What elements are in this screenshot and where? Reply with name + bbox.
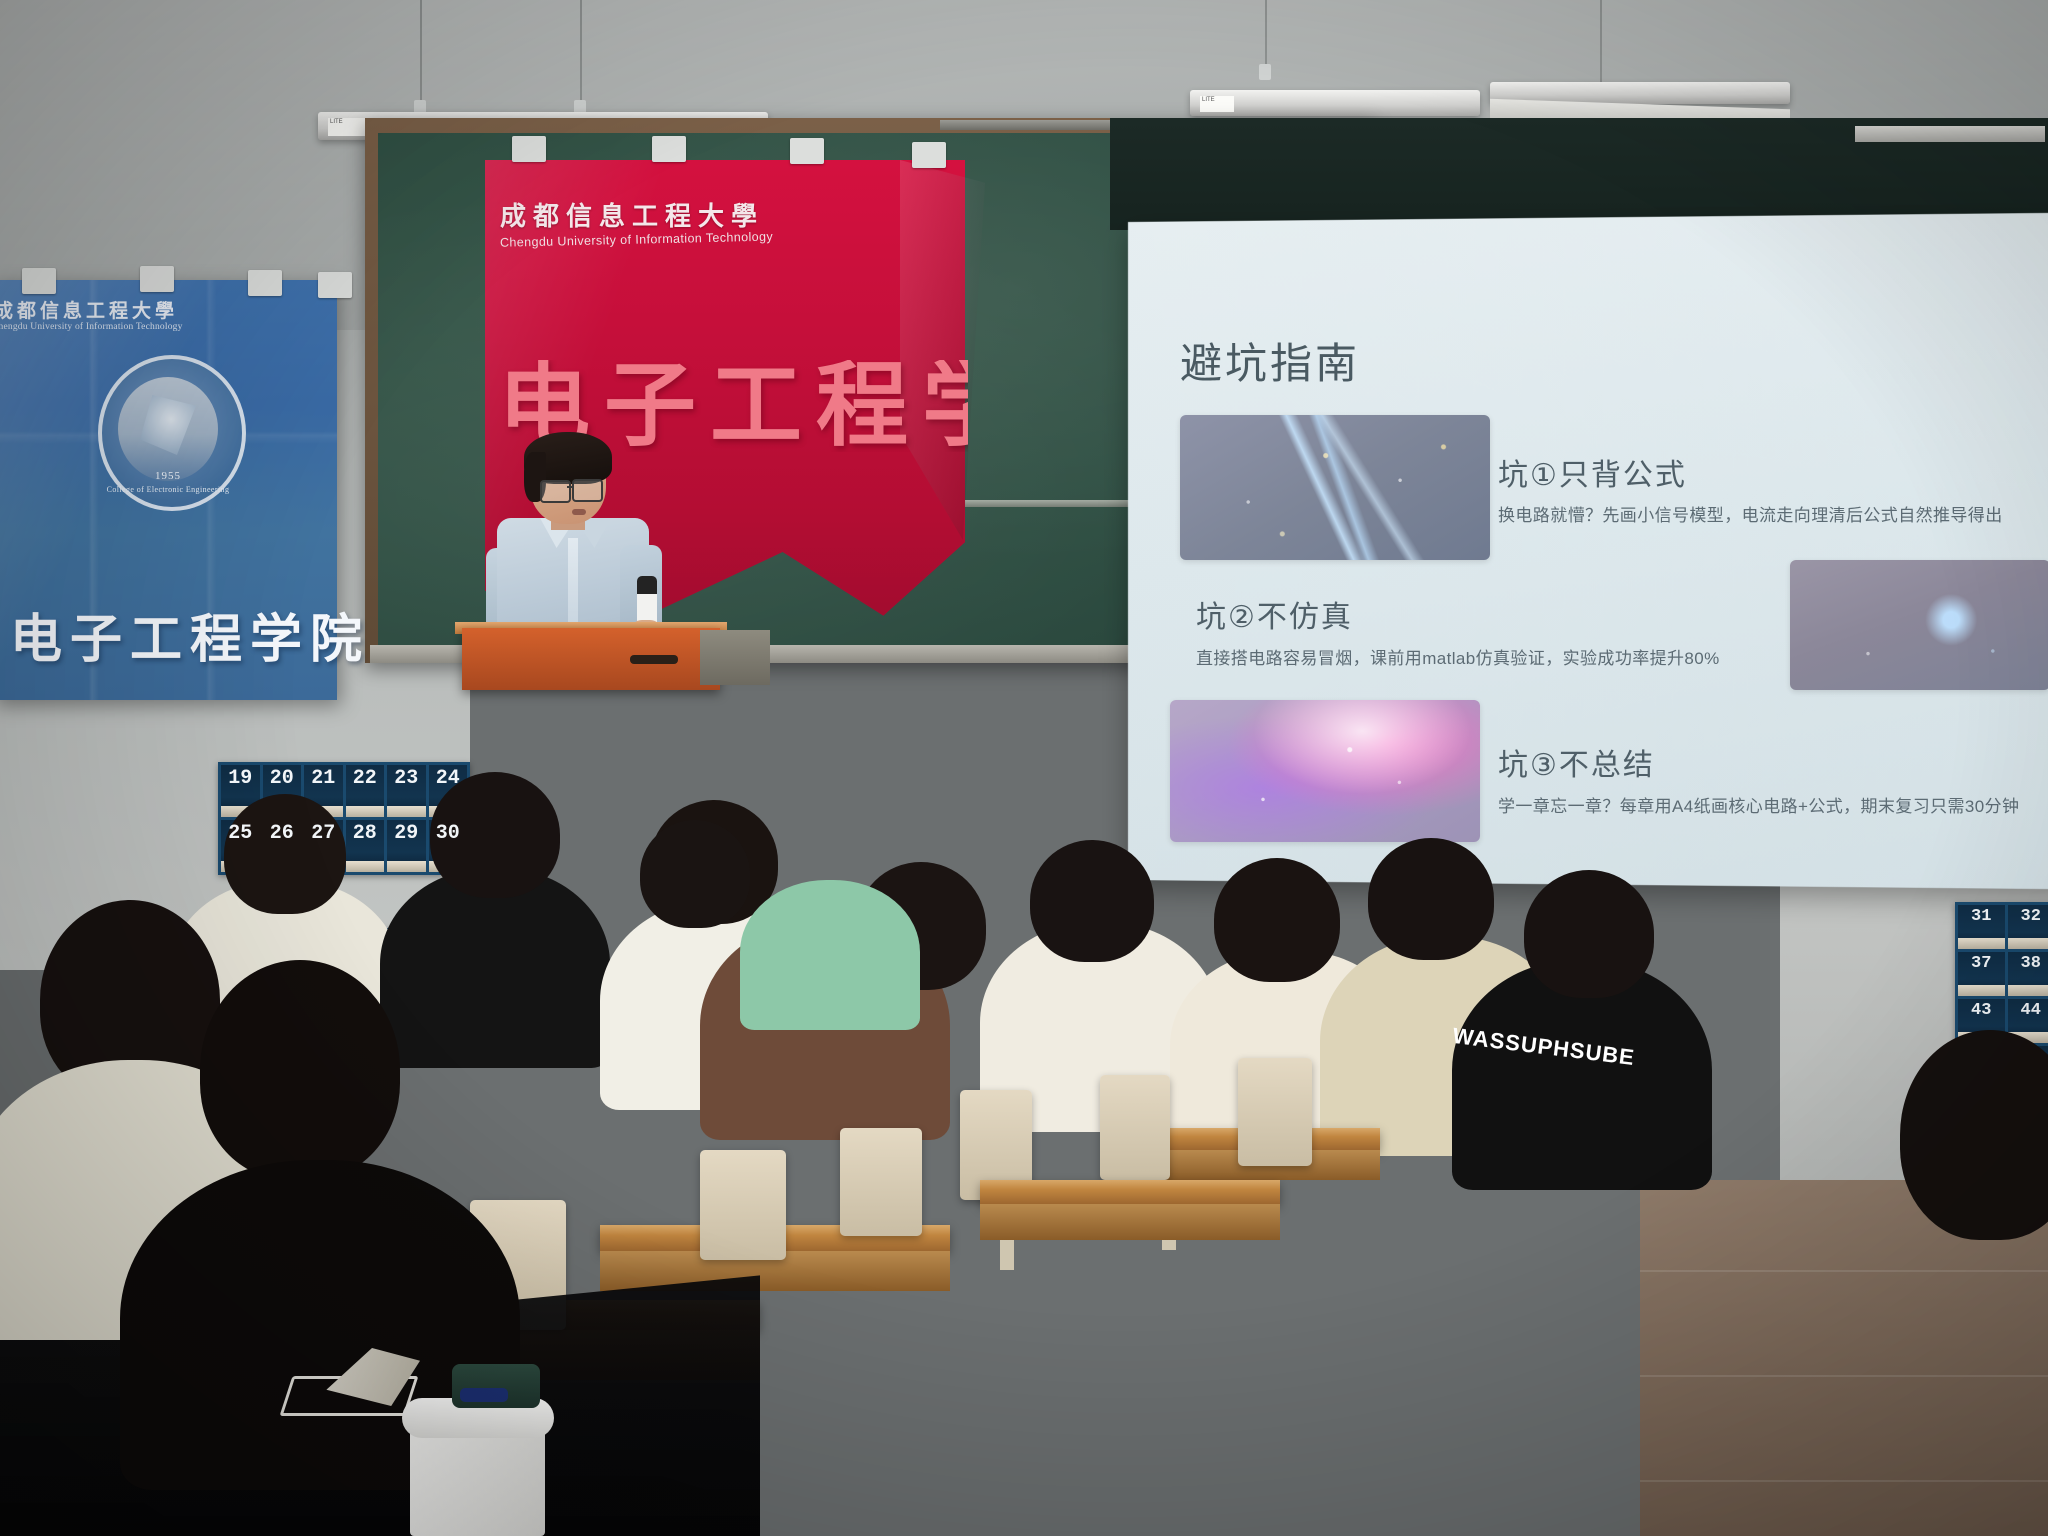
- slide-bullet-3-body: 学一章忘一章？每章用A4纸画核心电路+公式，期末复习只需30分钟: [1498, 792, 2019, 817]
- seat-number: 23: [394, 767, 418, 790]
- student-head: [640, 820, 750, 928]
- water-bottle-tab: [460, 1388, 508, 1402]
- slide-nebula-image: [1170, 700, 1480, 842]
- slide-bullet-1-body: 换电路就懵？先画小信号模型，电流走向理清后公式自然推导得出: [1498, 501, 2003, 526]
- glasses-bridge: [567, 486, 574, 488]
- seat-number: 28: [353, 822, 377, 845]
- seat-number: 26: [270, 822, 294, 845]
- student-head: [1524, 870, 1654, 998]
- glasses-icon: [540, 480, 571, 503]
- seat-number: 24: [436, 767, 460, 790]
- seat-number: 31: [1971, 907, 1991, 926]
- seat-number: 22: [353, 767, 377, 790]
- student-body: [740, 880, 920, 1030]
- blue-banner-university-cn: 成都信息工程大學: [0, 296, 224, 323]
- chair-back: [1238, 1058, 1312, 1166]
- seat-pocket: 23: [387, 765, 426, 817]
- banner-clip: [248, 270, 282, 296]
- seat-number: 30: [436, 822, 460, 845]
- light-fixture-label: LITE: [328, 118, 366, 136]
- banner-clip: [140, 266, 174, 292]
- banner-clip: [790, 138, 824, 164]
- crest-college-name-en: College of Electronic Engineering: [98, 485, 238, 494]
- seat-number: 32: [2021, 907, 2041, 926]
- banner-clip: [912, 142, 946, 168]
- student-head: [224, 794, 346, 914]
- light-wire: [420, 0, 422, 104]
- seat-pocket: 37: [1958, 952, 2005, 996]
- desk-front: [980, 1204, 1280, 1240]
- light-fixture-label: LITE: [1200, 96, 1234, 112]
- classroom-photo: LITE LITE 成都信息工程大學 Chengdu University of…: [0, 0, 2048, 1536]
- desk: [980, 1180, 1280, 1204]
- banner-clip: [512, 136, 546, 162]
- light-wire: [1600, 0, 1602, 86]
- slide-bullet-1-heading: 坑①只背公式: [1498, 450, 1687, 494]
- seat-pocket: 22: [346, 765, 385, 817]
- seat-pocket: 29: [387, 820, 426, 872]
- slide-bullet-2-body: 直接搭电路容易冒烟，课前用matlab仿真验证，实验成功率提升80%: [1196, 644, 1720, 669]
- glasses-icon: [572, 479, 603, 502]
- student-head: [1214, 858, 1340, 982]
- student-head-foreground: [200, 960, 400, 1180]
- slide-bullet-2-heading: 坑②不仿真: [1196, 592, 1353, 636]
- seat-number: 43: [1971, 1001, 1991, 1020]
- seat-number: 27: [311, 822, 335, 845]
- seat-number: 21: [311, 767, 335, 790]
- podium-side-cabinet: [700, 630, 770, 685]
- seat-number: 25: [228, 822, 252, 845]
- chair-back: [840, 1128, 922, 1236]
- slide-title: 避坑指南: [1180, 330, 1360, 391]
- light-clip: [1259, 64, 1271, 80]
- crest-year: 1955: [98, 470, 238, 482]
- banner-clip: [22, 268, 56, 294]
- student-head: [1368, 838, 1494, 960]
- seat-number: 19: [228, 767, 252, 790]
- seat-pocket: 31: [1958, 905, 2005, 949]
- chair-back: [1100, 1075, 1170, 1180]
- slide-circuit-traces-image: [1180, 415, 1490, 560]
- light-wire: [1265, 0, 1267, 68]
- slide-microchip-image: [1790, 560, 2048, 690]
- chair-back: [700, 1150, 786, 1260]
- podium-handle: [630, 655, 678, 664]
- seat-number: 37: [1971, 954, 1991, 973]
- seat-pocket: 38: [2008, 952, 2048, 996]
- banner-clip: [652, 136, 686, 162]
- seat-pocket: 32: [2008, 905, 2048, 949]
- blue-banner-university-en: Chengdu University of Information Techno…: [0, 322, 232, 332]
- seat-number: 20: [270, 767, 294, 790]
- light-wire: [580, 0, 582, 104]
- student-head: [1030, 840, 1154, 962]
- slide-bullet-3-heading: 坑③不总结: [1498, 740, 1655, 784]
- seat-number: 38: [2021, 954, 2041, 973]
- podium: [462, 628, 720, 690]
- red-banner-university-cn: 成都信息工程大學: [500, 196, 800, 233]
- blue-banner-college-cn: 电子工程学院: [10, 615, 340, 667]
- seat-number: 29: [394, 822, 418, 845]
- student-body: [380, 868, 610, 1068]
- seat-number: 44: [2021, 1001, 2041, 1020]
- presenter-mouth: [572, 509, 586, 515]
- seat-pocket: 28: [346, 820, 385, 872]
- banner-clip: [318, 272, 352, 298]
- projector-screen-roller: [1855, 126, 2045, 142]
